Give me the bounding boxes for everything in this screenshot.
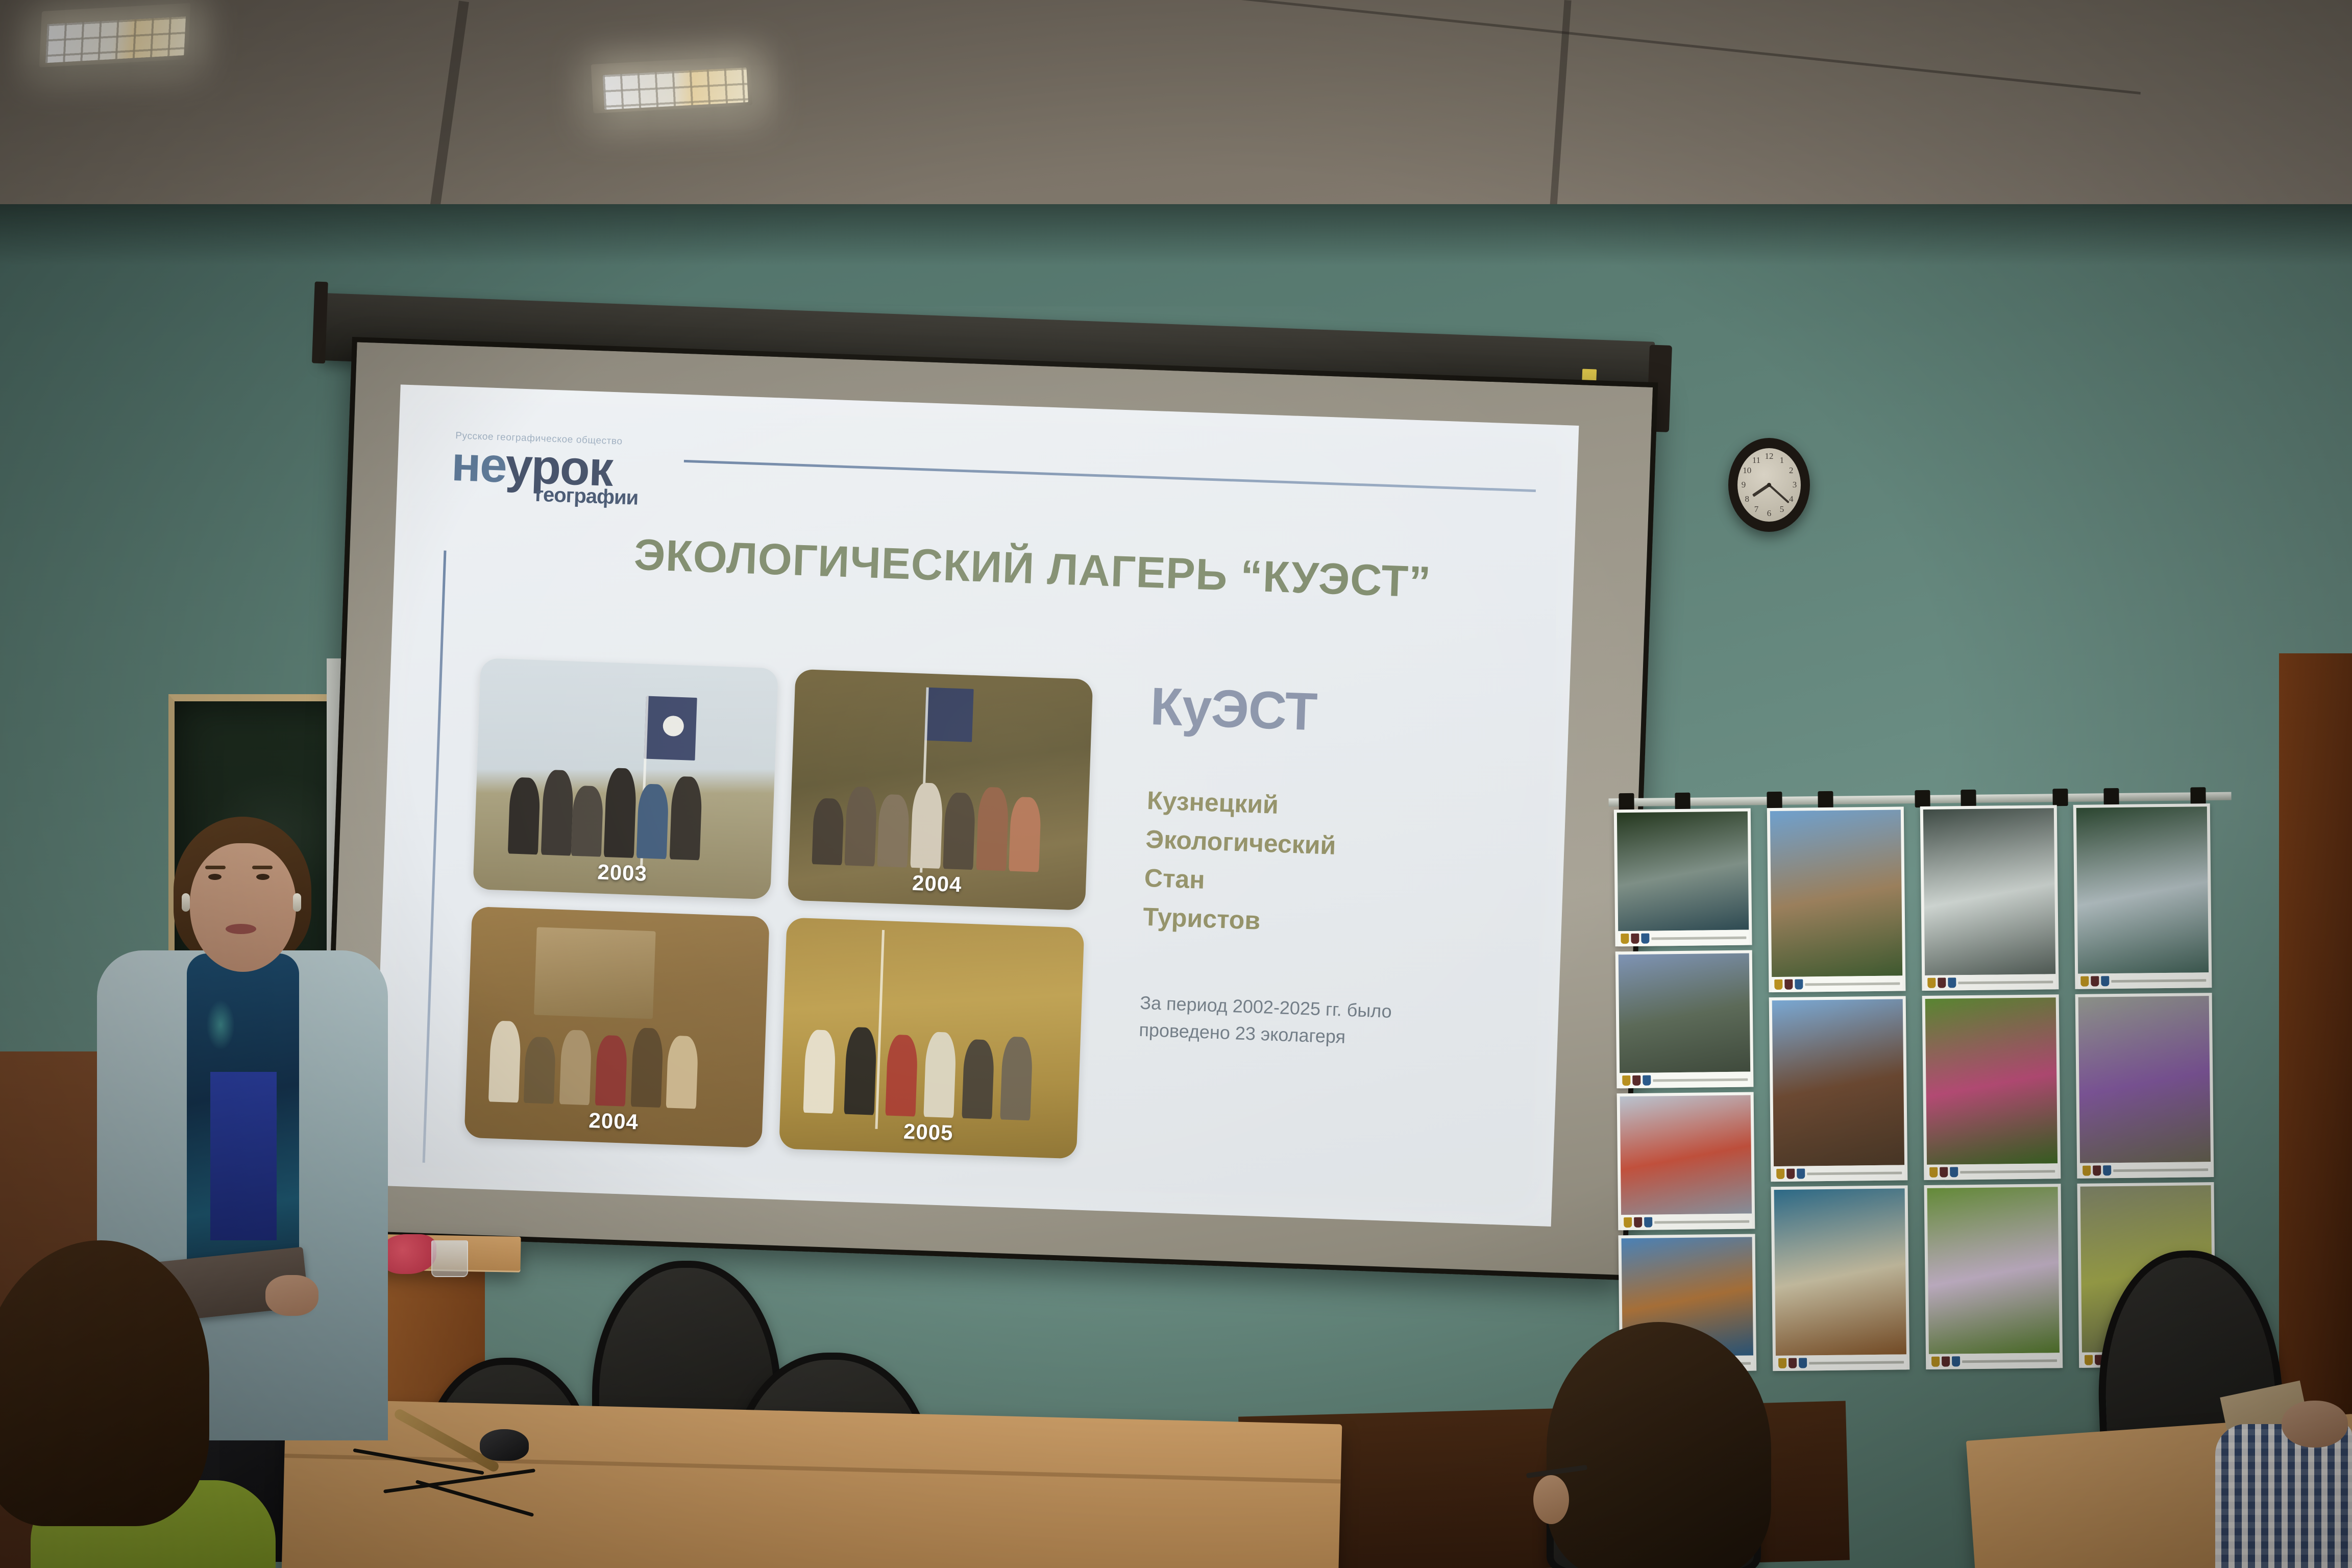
exhibit-seal-icon xyxy=(2091,976,2099,986)
binder-clip xyxy=(1619,793,1634,811)
exhibit-photo-image xyxy=(1772,999,1904,1166)
exhibit-photo-image xyxy=(1620,1095,1752,1215)
exhibit-photo-caption xyxy=(1621,1214,1752,1231)
clock-numeral: 6 xyxy=(1767,508,1772,519)
exhibit-photo-card xyxy=(1920,805,2059,991)
binder-clip xyxy=(1818,791,1833,808)
exhibit-photo-caption xyxy=(1620,1072,1750,1089)
exhibit-column-1 xyxy=(1614,808,1757,1378)
plaid-sleeve xyxy=(2215,1424,2352,1568)
exhibit-column-2 xyxy=(1767,806,1910,1376)
exhibit-seal-icon xyxy=(1631,934,1639,944)
exhibit-seal-icon xyxy=(1950,1167,1958,1177)
clock-numeral: 11 xyxy=(1752,455,1760,465)
exhibit-caption-text xyxy=(1653,1078,1748,1082)
exhibit-caption-text xyxy=(1807,1171,1902,1175)
photo-2004-bottom-figures xyxy=(477,995,754,1111)
binder-clip xyxy=(1767,792,1782,809)
exhibit-seal-icon xyxy=(1644,1217,1652,1228)
exhibit-photo-caption xyxy=(2080,1162,2211,1179)
slide-title: ЭКОЛОГИЧЕСКИЙ ЛАГЕРЬ “КУЭСТ” xyxy=(562,527,1503,610)
exhibit-caption-text xyxy=(2111,979,2206,983)
exhibit-seal-icon xyxy=(2101,976,2109,986)
exhibit-seal-icon xyxy=(1786,1169,1795,1179)
slide-rule-vertical xyxy=(423,551,447,1163)
photo-2003: 2003 xyxy=(473,658,778,899)
acronym-decoding: Кузнецкий Экологический Стан Туристов xyxy=(1142,781,1535,949)
photo-grid: 2003 2004 xyxy=(464,658,1093,1159)
exhibit-photo-card xyxy=(1922,994,2061,1180)
exhibit-seal-icon xyxy=(1643,1075,1651,1086)
exhibit-column-3 xyxy=(1920,805,2063,1375)
wall-shadow xyxy=(0,204,2352,265)
exhibit-photo-card xyxy=(2075,993,2214,1179)
exhibit-seal-icon xyxy=(1952,1356,1960,1366)
photo-2003-figures xyxy=(486,746,763,862)
exhibit-seal-icon xyxy=(1634,1217,1642,1228)
clock-numeral: 10 xyxy=(1743,465,1751,476)
exhibit-photo-card xyxy=(1614,808,1752,947)
exhibit-caption-text xyxy=(1805,982,1900,986)
exhibit-seal-icon xyxy=(1795,979,1803,989)
exhibit-photo-card xyxy=(1615,950,1754,1088)
binder-clip xyxy=(1675,793,1690,810)
clock-numeral: 5 xyxy=(1780,504,1784,514)
exhibit-seal-icon xyxy=(1938,978,1946,988)
clock-numeral: 3 xyxy=(1793,480,1797,490)
photo-2004-top: 2004 xyxy=(788,669,1093,911)
binder-clip xyxy=(2052,789,2068,806)
rgo-neurok-logo: Русское географическое общество неурок г… xyxy=(445,430,652,510)
ceiling-light-right xyxy=(591,56,753,113)
clock-center-pin xyxy=(1767,483,1771,487)
presentation-slide: Русское географическое общество неурок г… xyxy=(373,384,1579,1227)
exhibit-photo-image xyxy=(2076,806,2209,974)
classroom-scene: 121234567891011 ЕГЭ 2009-2010 Русское ге… xyxy=(0,0,2352,1568)
photo-year-label: 2003 xyxy=(597,860,648,886)
exhibit-photo-caption xyxy=(1618,930,1749,947)
student-foreground-right xyxy=(2215,1424,2352,1568)
wall-clock: 121234567891011 xyxy=(1728,438,1810,532)
presenter-hand xyxy=(265,1275,318,1316)
exhibit-seal-icon xyxy=(1948,977,1956,988)
photo-year-label: 2004 xyxy=(589,1108,639,1134)
roller-endcap-left xyxy=(312,281,328,363)
exhibit-photo-card xyxy=(1769,996,1908,1182)
presenter-face xyxy=(190,843,296,972)
exhibit-seal-icon xyxy=(1776,1169,1784,1179)
ceiling-light-left xyxy=(39,3,191,67)
exhibit-caption-text xyxy=(1651,936,1746,940)
photo-2004-top-figures xyxy=(801,757,1078,873)
clock-numeral: 4 xyxy=(1789,494,1794,504)
photo-2004-bottom: 2004 xyxy=(464,906,769,1148)
computer-mouse[interactable] xyxy=(480,1429,529,1461)
presenter-eye xyxy=(208,874,222,880)
exhibit-caption-text xyxy=(1958,981,2053,984)
slide-rule-horizontal xyxy=(684,460,1536,492)
earring xyxy=(293,893,301,912)
exhibit-seal-icon xyxy=(1927,978,1935,988)
exhibit-seal-icon xyxy=(2085,1355,2093,1365)
exhibit-caption-text xyxy=(1809,1361,1904,1364)
binder-clip xyxy=(2190,787,2206,804)
exhibit-caption-text xyxy=(1962,1359,2057,1363)
exhibit-seal-icon xyxy=(1624,1217,1632,1228)
exhibit-seal-icon xyxy=(1942,1356,1950,1366)
presenter-top xyxy=(210,1072,277,1240)
exhibit-seal-icon xyxy=(1621,934,1629,944)
exhibit-seal-icon xyxy=(2080,976,2089,987)
clock-numeral: 9 xyxy=(1742,480,1746,490)
exhibit-photo-image xyxy=(1923,808,2055,975)
exhibit-photo-image xyxy=(1770,810,1902,977)
exhibit-photo-image xyxy=(1619,953,1750,1073)
binder-clip xyxy=(2103,788,2119,805)
exhibit-photo-card xyxy=(1924,1184,2063,1369)
binder-clip xyxy=(1915,790,1930,807)
student-hair xyxy=(1547,1322,1771,1568)
exhibit-caption-text xyxy=(2113,1168,2208,1172)
exhibit-caption-text xyxy=(1654,1220,1749,1223)
clock-numeral: 12 xyxy=(1765,451,1774,461)
student-foreground-left xyxy=(0,1240,265,1568)
earring xyxy=(182,893,190,912)
presenter-mouth xyxy=(226,924,256,934)
exhibit-photo-card xyxy=(1767,806,1906,992)
exhibit-seal-icon xyxy=(1940,1167,1948,1178)
exhibit-photo-card xyxy=(1617,1092,1755,1230)
period-statistics: За период 2002-2025 гг. было проведено 2… xyxy=(1139,989,1528,1057)
photo-year-label: 2004 xyxy=(912,871,962,897)
exhibit-photo-caption xyxy=(1925,974,2055,991)
slide-right-column: КуЭСТ Кузнецкий Экологический Стан Турис… xyxy=(1139,676,1539,1057)
acronym-heading: КуЭСТ xyxy=(1149,676,1539,750)
exhibit-photo-caption xyxy=(2078,972,2209,989)
exhibit-caption-text xyxy=(1960,1170,2055,1173)
exhibit-seal-icon xyxy=(1632,1075,1640,1086)
exhibit-photo-image xyxy=(1927,1187,2060,1354)
clock-numeral: 1 xyxy=(1780,455,1784,465)
exhibit-seal-icon xyxy=(1641,934,1649,944)
exhibit-photo-image xyxy=(1617,812,1749,932)
student-ear xyxy=(1533,1475,1569,1524)
logo-word-part1: не xyxy=(451,436,507,493)
exhibit-seal-icon xyxy=(2082,1166,2091,1176)
photo-2005-figures xyxy=(792,1006,1069,1121)
presenter-eye xyxy=(256,874,269,880)
exhibit-seal-icon xyxy=(2093,1165,2101,1175)
exhibit-seal-icon xyxy=(1931,1357,1940,1367)
exhibit-photo-image xyxy=(2078,996,2211,1163)
photo-year-label: 2005 xyxy=(903,1119,953,1145)
photo-2005: 2005 xyxy=(779,917,1084,1159)
exhibit-photo-caption xyxy=(1929,1353,2060,1369)
clock-numeral: 7 xyxy=(1754,504,1759,514)
exhibit-photo-card xyxy=(2073,803,2212,989)
exhibit-seal-icon xyxy=(1929,1167,1938,1178)
binder-clip xyxy=(1961,790,1976,807)
student-hand xyxy=(2282,1401,2348,1448)
clock-numeral: 2 xyxy=(1789,465,1794,476)
exhibit-seal-icon xyxy=(1622,1075,1630,1086)
exhibit-seal-icon xyxy=(1797,1168,1805,1179)
student-hair xyxy=(0,1240,209,1526)
plastic-cup[interactable] xyxy=(431,1240,468,1277)
projection-screen: Русское географическое общество неурок г… xyxy=(321,337,1658,1280)
exhibit-photo-caption xyxy=(1927,1163,2057,1180)
logo-subtitle: географии xyxy=(535,483,650,510)
exhibit-seal-icon xyxy=(1774,979,1782,990)
exhibit-seal-icon xyxy=(2103,1165,2111,1175)
student-foreground-center xyxy=(1526,1322,1812,1568)
exhibit-seal-icon xyxy=(1784,979,1793,990)
exhibit-photo-caption xyxy=(1774,1165,1904,1182)
exhibit-photo-image xyxy=(1925,997,2057,1165)
exhibit-photo-caption xyxy=(1772,975,1902,992)
clock-numeral: 8 xyxy=(1745,494,1749,504)
